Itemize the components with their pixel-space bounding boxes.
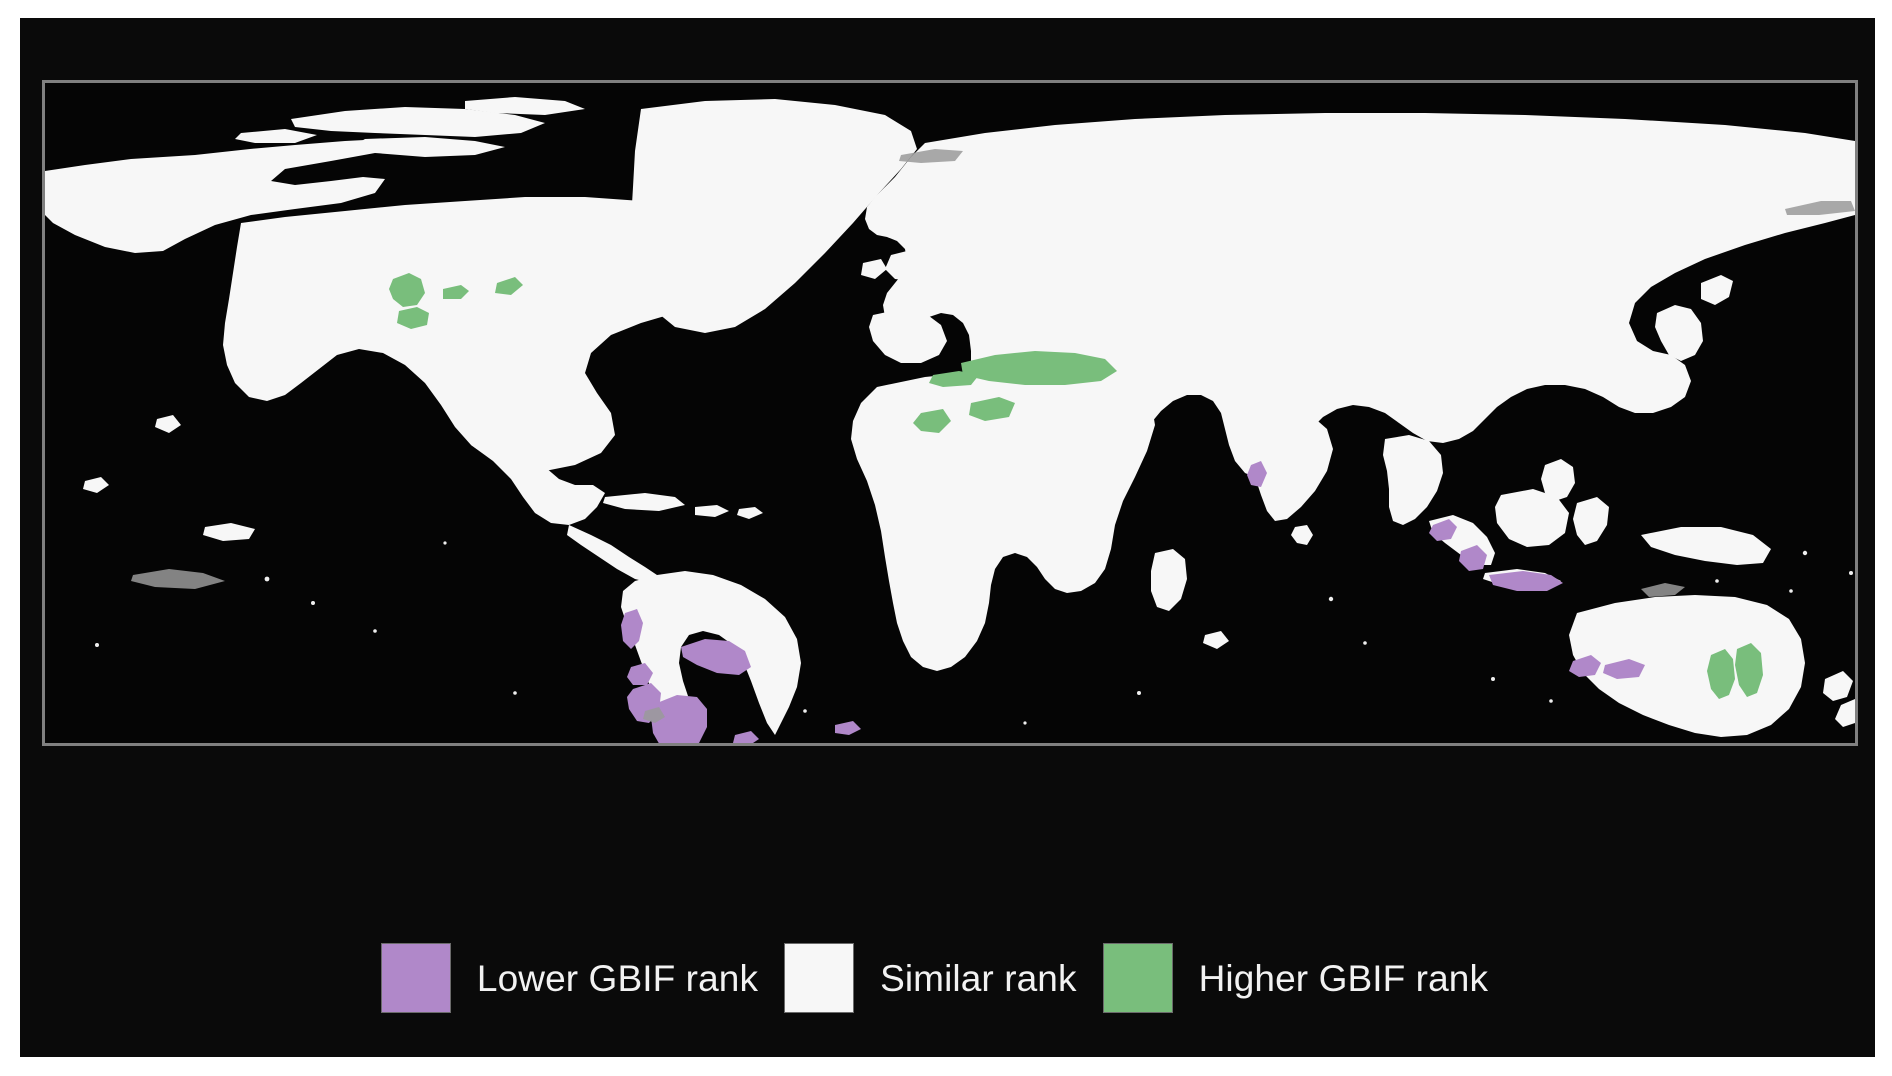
- legend-entry-similar-rank[interactable]: Similar rank: [784, 943, 1103, 1013]
- map-legend: Lower GBIF rank Similar rank Higher GBIF…: [20, 923, 1875, 1033]
- world-map[interactable]: [45, 83, 1855, 743]
- legend-label-similar-rank: Similar rank: [880, 960, 1077, 997]
- figure-panel: Lower GBIF rank Similar rank Higher GBIF…: [20, 18, 1875, 1057]
- legend-swatch-higher-gbif-rank: [1103, 943, 1173, 1013]
- map-frame: [42, 80, 1858, 746]
- legend-entry-higher-gbif-rank[interactable]: Higher GBIF rank: [1103, 943, 1514, 1013]
- legend-swatch-similar-rank: [784, 943, 854, 1013]
- legend-swatch-lower-gbif-rank: [381, 943, 451, 1013]
- legend-label-lower-gbif-rank: Lower GBIF rank: [477, 960, 758, 997]
- legend-label-higher-gbif-rank: Higher GBIF rank: [1199, 960, 1488, 997]
- legend-entry-lower-gbif-rank[interactable]: Lower GBIF rank: [381, 943, 784, 1013]
